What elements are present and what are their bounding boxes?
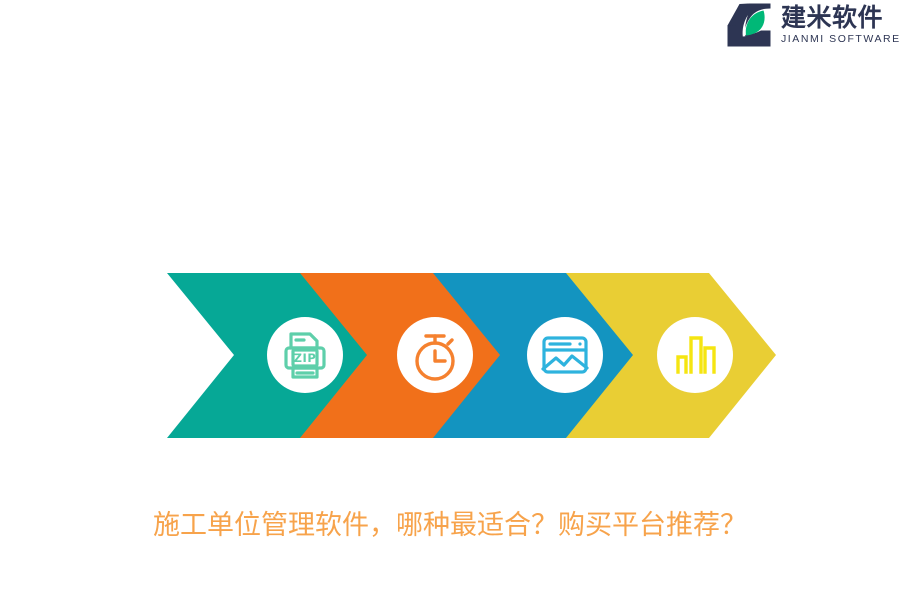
brand-name-en: JIANMI SOFTWARE <box>781 34 900 45</box>
brand-wordmark: 建米软件 JIANMI SOFTWARE <box>781 5 900 45</box>
zip-icon-label: ZIP <box>294 351 317 365</box>
jianmi-hexagon-leaf-logo-icon <box>725 2 773 48</box>
chevron-process-banner: ZIP <box>160 268 780 444</box>
page-caption: 施工单位管理软件，哪种最适合？购买平台推荐？ <box>0 503 900 542</box>
brand-name-cn: 建米软件 <box>781 5 900 30</box>
brand-logo: 建米软件 JIANMI SOFTWARE <box>725 0 900 50</box>
